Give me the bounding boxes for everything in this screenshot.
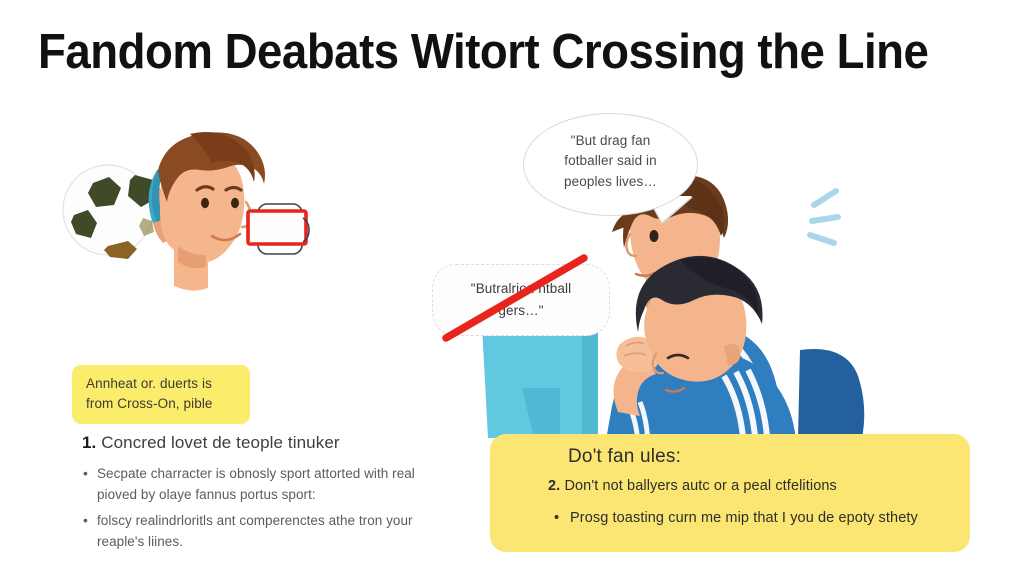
right-box-bullet: Prosg toasting curn me mip that I you de… [554, 506, 970, 531]
bubble1-line-3: peoples lives… [524, 172, 697, 192]
right-callout-box: Do't fan ules: 2. Don't not ballyers aut… [490, 434, 970, 552]
speech-bubble-allowed: "But drag fan fotballer said in peoples … [523, 113, 698, 216]
speech-bubble-crossed: "Butralrion ntball gers…" [432, 264, 610, 336]
left-list-heading-text: Concred lovet de teople tinuker [101, 433, 339, 452]
office-chair-icon [798, 349, 864, 438]
soccer-ball-icon [63, 165, 157, 259]
left-callout-badge: Annheat or. duerts is from Cross-On, pib… [72, 365, 250, 424]
bubble2-line-1: "Butralrion ntball [433, 278, 609, 300]
bubble1-line-2: fotballer said in [524, 151, 697, 171]
bubble1-line-1: "But drag fan [524, 131, 697, 151]
speech-bubble-crossed-text: "Butralrion ntball gers…" [433, 278, 609, 321]
speech-bubble-allowed-text: "But drag fan fotballer said in peoples … [524, 131, 697, 192]
seated-person-thinking [606, 256, 796, 450]
badge-line-2: from Cross-On, pible [86, 394, 236, 414]
badge-line-1: Annheat or. duerts is [86, 374, 236, 394]
right-box-number: 2. [548, 478, 560, 494]
left-list-number: 1. [82, 433, 96, 452]
bubble2-line-2: gers…" [433, 300, 609, 322]
left-list-heading: 1. Concred lovet de teople tinuker [82, 432, 427, 455]
infographic-canvas: Fandom Deabats Witort Crossing the Line [0, 0, 1024, 585]
right-box-numbered-line: 2. Don't not ballyers autc or a peal ctf… [548, 478, 837, 494]
left-list-bullet: folscy realindrloritls ant comperenctes … [82, 511, 427, 553]
left-illustration-svg [60, 120, 350, 305]
right-box-numbered-text: Don't not ballyers autc or a peal ctfeli… [564, 478, 836, 494]
left-text-block: 1. Concred lovet de teople tinuker Secpa… [82, 432, 427, 558]
right-box-heading: Do't fan ules: [568, 446, 681, 468]
red-card-icon [248, 204, 309, 254]
page-title: Fandom Deabats Witort Crossing the Line [38, 26, 922, 80]
left-illustration [60, 120, 350, 305]
motion-lines-icon [810, 191, 838, 243]
left-list-bullet: Secpate charracter is obnosly sport atto… [82, 464, 427, 506]
